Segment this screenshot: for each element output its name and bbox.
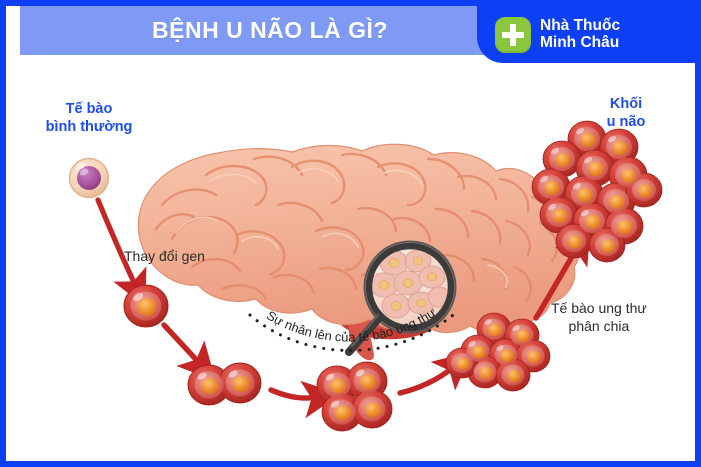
label-cancer-divide-line1: Tế bào ung thư [551,300,647,318]
arrow-normal-to-mutated [98,200,137,289]
label-normal-cell: Tế bào bình thường [24,101,154,136]
diagram-canvas: Sự nhân lên của tế bào ung thư Tế bào bì… [6,63,695,461]
brand-name: Nhà Thuốc Minh Châu [540,18,620,51]
mutated-cell [124,285,168,327]
normal-cell [70,159,109,198]
label-normal-cell-line2: bình thường [24,119,154,137]
header: BỆNH U NÃO LÀ GÌ? Nhà Thuốc Minh Châu [6,6,695,63]
arrow-mutated-to-two-cell [164,325,202,366]
four-cell-cluster [317,362,392,431]
two-cell-cluster [188,363,261,405]
plus-vertical-bar [510,24,516,46]
infographic-page: BỆNH U NÃO LÀ GÌ? Nhà Thuốc Minh Châu [0,0,701,467]
label-normal-cell-line1: Tế bào [24,101,154,119]
page-title: BỆNH U NÃO LÀ GÌ? [20,6,520,55]
arrow-two-to-four-cell [271,390,320,398]
label-tumour-mass: Khối u não [566,96,686,131]
label-tumour-mass-line2: u não [566,114,686,132]
green-plus-cross-icon [495,17,531,53]
brand-name-line2: Minh Châu [540,35,620,52]
label-tumour-mass-line1: Khối [566,96,686,114]
brand-name-line1: Nhà Thuốc [540,18,620,35]
label-cancer-divide-line2: phân chia [551,318,647,336]
label-cancer-cell-division: Tế bào ung thư phân chia [551,300,647,335]
brand-logo[interactable]: Nhà Thuốc Minh Châu [477,6,695,63]
label-gene-change: Thay đổi gen [124,248,205,266]
